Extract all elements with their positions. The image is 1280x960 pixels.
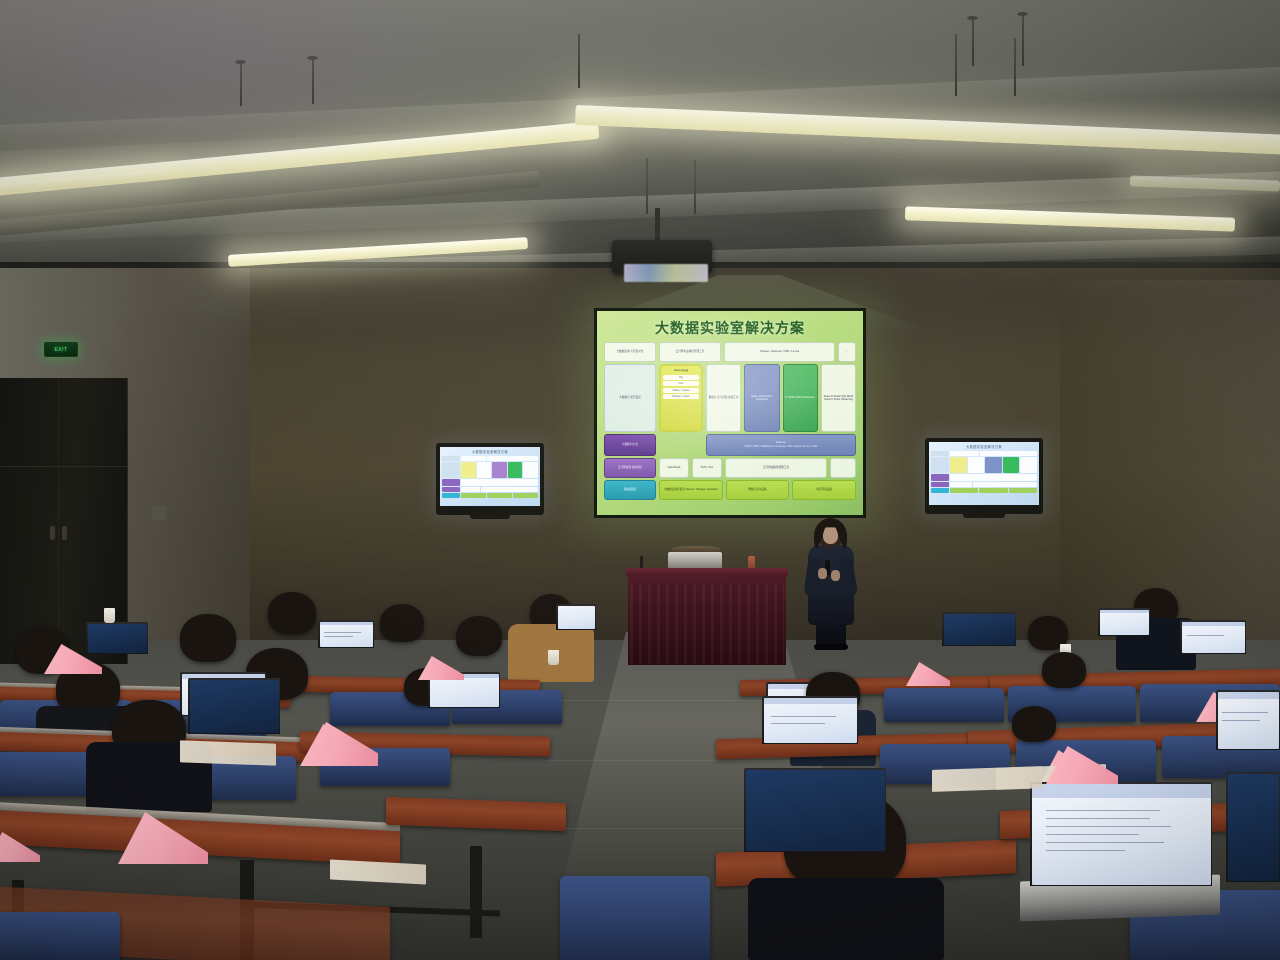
- laptop-titlebar: [1032, 784, 1211, 798]
- lecture-hall-photo: EXIT 大数据实验室解决方案 大数据实训 与开发平台 云计算机虚拟化管理工具 …: [0, 0, 1280, 960]
- left-monitor-cell: [461, 493, 486, 498]
- slide-cell-bi-tools: Tableau / Datameer / IBM / Lumira: [724, 342, 835, 362]
- right-monitor-cell: [950, 451, 979, 456]
- right-monitor-cell: [1009, 488, 1037, 493]
- projector-hanger-b: [694, 160, 696, 214]
- laptop-text-line: [1046, 834, 1139, 835]
- left-monitor-cell: [442, 462, 460, 478]
- light-hanger-1: [972, 18, 974, 66]
- slide-resource-row: 云计算资源 虚拟化层 OpenStack KVM / Xen 云计算虚拟化管理工…: [604, 458, 856, 478]
- right-monitor-cell: [950, 474, 1037, 481]
- student-head: [180, 614, 236, 662]
- laptop-screen: [1182, 622, 1245, 653]
- projection-screen-surface: 大数据实验室解决方案 大数据实训 与开发平台 云计算机虚拟化管理工具 Table…: [597, 311, 863, 515]
- laptop-lid: [942, 612, 1016, 646]
- slide-platform-spacer: [659, 434, 703, 456]
- left-monitor-cell: [442, 487, 460, 492]
- slide-infra-row: 基础设施层 大数据实验室机房 (Server / Storage / Netwo…: [604, 480, 856, 500]
- laptop-titlebar: [320, 622, 373, 626]
- left-monitor-row-4: [442, 487, 538, 492]
- light-hanger-3: [955, 34, 957, 96]
- right-monitor-cell: [931, 488, 949, 493]
- left-monitor-cell: [461, 456, 486, 461]
- slide-content: 大数据实验室解决方案 大数据实训 与开发平台 云计算机虚拟化管理工具 Table…: [597, 311, 863, 515]
- slide-cell-spark: Spark R Spark SQL MLlib GraphX Spark Str…: [821, 364, 856, 432]
- slide-diagram: 大数据实训 与开发平台 云计算机虚拟化管理工具 Tableau / Datame…: [604, 342, 856, 509]
- left-monitor-row-5: [442, 493, 538, 498]
- left-monitor-cell: [492, 462, 507, 478]
- light-hanger-cap-5: [235, 60, 246, 64]
- left-monitor-title: 大数据实验室解决方案: [440, 449, 540, 454]
- door-center-split: [58, 378, 59, 664]
- handout-paper: [180, 740, 276, 765]
- slide-hadoop-bar-title: Hadoop: [776, 441, 786, 444]
- laptop-screen: [1032, 784, 1211, 885]
- left-monitor-cell: [487, 493, 512, 498]
- light-hanger-2: [1022, 14, 1024, 66]
- laptop-lid: [1030, 782, 1212, 886]
- laptop-text-line: [1046, 826, 1171, 827]
- laptop-lid: [318, 620, 374, 648]
- laptop-lid: [1098, 608, 1150, 636]
- student-head: [268, 592, 316, 634]
- slide-hadoop-header: Hadoop生态: [663, 368, 699, 373]
- right-monitor-row-3: [931, 474, 1037, 481]
- slide-hadoop-chip-3: Hadoop / Spark: [663, 394, 699, 399]
- left-monitor-cell: [487, 456, 538, 461]
- laptop-lid: [744, 768, 886, 852]
- student-head: [380, 604, 424, 642]
- left-monitor-cell: [508, 462, 523, 478]
- slide-cell-virtualization-tool: 云计算机虚拟化管理工具: [659, 342, 721, 362]
- chair-back[interactable]: [560, 876, 710, 960]
- right-monitor-stand: [963, 512, 1005, 518]
- light-hanger-cap-1: [967, 16, 978, 20]
- laptop-lid: [86, 622, 148, 654]
- light-hanger-7: [578, 34, 580, 88]
- slide-cell-network-security: 网络与安全设备: [726, 480, 790, 500]
- laptop-text-line: [1187, 635, 1225, 636]
- chair-back[interactable]: [884, 688, 1004, 722]
- right-monitor-cell: [950, 488, 978, 493]
- drink-cup: [548, 650, 559, 665]
- left-wall-monitor-screen: 大数据实验室解决方案: [440, 447, 540, 506]
- laptop-screen: [320, 622, 373, 647]
- slide-cell-lab-room: 大数据实验室机房 (Server / Storage / Network): [659, 480, 723, 500]
- light-hanger-cap-2: [1017, 12, 1028, 16]
- left-monitor-cell: [523, 462, 538, 478]
- laptop-text-line: [324, 632, 361, 633]
- laptop-text-line: [1222, 720, 1260, 721]
- slide-label-analysis-layer: 大数据分 析开发层: [604, 364, 656, 432]
- slide-hadoop-bar-subtitle: HDFS / YARN / MapReduce / Zookeeper / Hi…: [745, 446, 818, 449]
- student-head: [1012, 706, 1056, 742]
- door-rail: [0, 466, 127, 467]
- laptop-titlebar: [1100, 610, 1149, 614]
- light-hanger-cap-6: [307, 56, 318, 60]
- laptop-text-line: [771, 716, 836, 717]
- right-monitor-cell: [980, 451, 1037, 456]
- light-hanger-6: [312, 58, 314, 104]
- projector-hanger-a: [646, 158, 648, 214]
- laptop-screen: [558, 606, 595, 629]
- presenter: [800, 520, 862, 648]
- slide-cell-top-extra: …: [838, 342, 856, 362]
- podium-skirt: [630, 584, 784, 664]
- presenter-right-hand: [831, 570, 840, 581]
- slide-hadoop-bar: Hadoop HDFS / YARN / MapReduce / Zookeep…: [706, 434, 856, 456]
- left-monitor-row-2: [442, 462, 538, 478]
- left-monitor-cell: [461, 479, 538, 486]
- laptop-lid: [1216, 690, 1280, 750]
- slide-cell-openstack: OpenStack: [659, 458, 689, 478]
- left-monitor-cell: [461, 462, 476, 478]
- slide-analysis-row: 大数据分 析开发层 Hadoop生态 Pig Hive Hbase / Impa…: [604, 364, 856, 432]
- laptop-screen: [1228, 774, 1279, 881]
- exit-sign: EXIT: [44, 342, 78, 357]
- podium-table: [628, 573, 786, 665]
- drink-cup: [104, 608, 115, 623]
- slide-title: 大数据实验室解决方案: [604, 321, 856, 335]
- laptop-text-line: [1046, 850, 1125, 851]
- left-wall-monitor: 大数据实验室解决方案: [436, 443, 544, 515]
- laptop-titlebar: [1182, 622, 1245, 626]
- slide-cell-kvm-xen: KVM / Xen: [692, 458, 722, 478]
- desk-leg: [470, 846, 482, 938]
- right-monitor-row-5: [931, 488, 1037, 493]
- left-monitor-cell: [477, 462, 492, 478]
- left-monitor-diagram: [440, 456, 540, 500]
- student-head: [456, 616, 502, 656]
- laptop-text-line: [1046, 842, 1164, 843]
- laptop-lid: [1226, 772, 1280, 882]
- left-monitor-row-3: [442, 479, 538, 486]
- slide-hadoop-chip-2: Hbase / Impala: [663, 388, 699, 393]
- slide-hadoop-chip-0: Pig: [663, 375, 699, 380]
- right-monitor-cell: [979, 488, 1007, 493]
- left-monitor-cell: [513, 493, 538, 498]
- slide-cell-statistics: R SPSS SAS R Business: [783, 364, 818, 432]
- left-monitor-cell: [481, 487, 538, 492]
- right-monitor-row-4: [931, 482, 1037, 487]
- right-monitor-row-2: [931, 457, 1037, 473]
- laptop-screen: [1100, 610, 1149, 635]
- slide-label-platform-layer: 大数据平台 层: [604, 434, 656, 456]
- slide-cell-room-env: 机房环境设备: [792, 480, 856, 500]
- left-monitor-cell: [442, 456, 460, 461]
- right-monitor-cell: [950, 482, 972, 487]
- right-monitor-cell: [1020, 457, 1037, 473]
- right-monitor-diagram: [929, 451, 1039, 495]
- slide-cell-resource-extra: …: [830, 458, 856, 478]
- left-monitor-row-1: [442, 456, 538, 461]
- right-monitor-cell: [931, 474, 949, 481]
- handout-paper: [932, 766, 1042, 792]
- laptop-screen: [88, 624, 147, 653]
- right-monitor-cell: [1003, 457, 1020, 473]
- laptop-lid: [762, 696, 858, 744]
- slide-label-resource-layer: 云计算资源 虚拟化层: [604, 458, 656, 478]
- left-monitor-cell: [442, 493, 460, 498]
- student-body: [748, 878, 944, 960]
- student-head: [1042, 652, 1086, 688]
- laptop-lid: [188, 678, 280, 734]
- laptop-text-line: [771, 723, 825, 724]
- light-hanger-4: [1014, 38, 1016, 96]
- slide-hadoop-chip-1: Hive: [663, 381, 699, 386]
- right-monitor-cell: [973, 482, 1038, 487]
- laptop-text-line: [1222, 712, 1267, 713]
- slide-label-infra-layer: 基础设施层: [604, 480, 656, 500]
- presenter-face: [823, 526, 838, 544]
- laptop-text-line: [324, 636, 353, 637]
- projection-screen: 大数据实验室解决方案 大数据实训 与开发平台 云计算机虚拟化管理工具 Table…: [594, 308, 866, 518]
- right-monitor-cell: [931, 451, 949, 456]
- slide-top-row: 大数据实训 与开发平台 云计算机虚拟化管理工具 Tableau / Datame…: [604, 342, 856, 362]
- laptop-titlebar: [1218, 692, 1279, 700]
- right-monitor-cell: [985, 457, 1002, 473]
- projector-lens: [624, 264, 708, 282]
- right-monitor-title: 大数据实验室解决方案: [929, 444, 1039, 449]
- laptop-lid: [1180, 620, 1246, 654]
- light-hanger-5: [240, 62, 242, 106]
- left-monitor-stand: [470, 513, 510, 519]
- door-handle-right[interactable]: [62, 526, 67, 540]
- laptop-lid: [556, 604, 596, 630]
- slide-hadoop-highlight-box: Hadoop生态 Pig Hive Hbase / Impala Hadoop …: [659, 364, 703, 432]
- right-wall-monitor: 大数据实验室解决方案: [925, 438, 1043, 514]
- slide-cell-languages: Scala Java Python GraphLab: [744, 364, 779, 432]
- left-monitor-cell: [461, 487, 480, 492]
- laptop-screen: [944, 614, 1015, 645]
- door-handle-left[interactable]: [50, 526, 55, 540]
- presenter-left-hand: [818, 568, 827, 579]
- right-wall-monitor-screen: 大数据实验室解决方案: [929, 442, 1039, 505]
- left-monitor-cell: [442, 479, 460, 486]
- laptop-screen: [190, 680, 279, 733]
- laptop-titlebar: [764, 698, 857, 704]
- projector-mount: [655, 208, 660, 242]
- laptop-text-line: [1046, 818, 1150, 819]
- right-monitor-row-1: [931, 451, 1037, 456]
- right-monitor-cell: [931, 457, 949, 473]
- right-monitor-cell: [950, 457, 967, 473]
- laptop-text-line: [1046, 810, 1161, 811]
- chair-back[interactable]: [0, 912, 120, 960]
- wall-light-switch[interactable]: [152, 506, 166, 520]
- slide-cell-app-platform: 大数据实训 与开发平台: [604, 342, 656, 362]
- slide-cell-cloud-mgmt: 云计算虚拟化管理工具: [725, 458, 827, 478]
- laptop-screen: [764, 698, 857, 743]
- laptop-screen: [746, 770, 885, 851]
- laptop-screen: [1218, 692, 1279, 749]
- presenter-shoes: [814, 644, 848, 650]
- slide-platform-row: 大数据平台 层 Hadoop HDFS / YARN / MapReduce /…: [604, 434, 856, 456]
- right-monitor-cell: [931, 482, 949, 487]
- right-monitor-cell: [968, 457, 985, 473]
- exit-sign-label: EXIT: [54, 347, 67, 353]
- slide-cell-mining-tools: 数据分 析与挖掘 建模工具: [706, 364, 741, 432]
